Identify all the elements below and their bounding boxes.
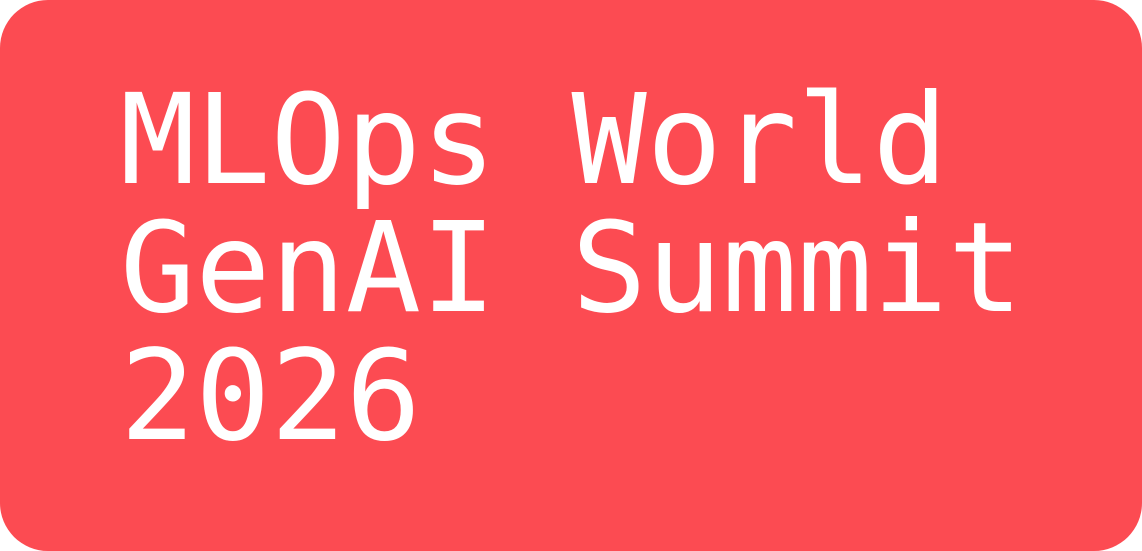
event-title-line-2: GenAI Summit: [120, 205, 1080, 333]
event-title-line-1: MLOps World: [120, 77, 1080, 205]
event-title-block: MLOps World GenAI Summit 2026: [120, 77, 1080, 461]
event-title-line-3: 2026: [120, 333, 1080, 461]
event-banner-card: MLOps World GenAI Summit 2026: [0, 0, 1142, 551]
screenshot-canvas: MLOps World GenAI Summit 2026: [0, 0, 1142, 551]
